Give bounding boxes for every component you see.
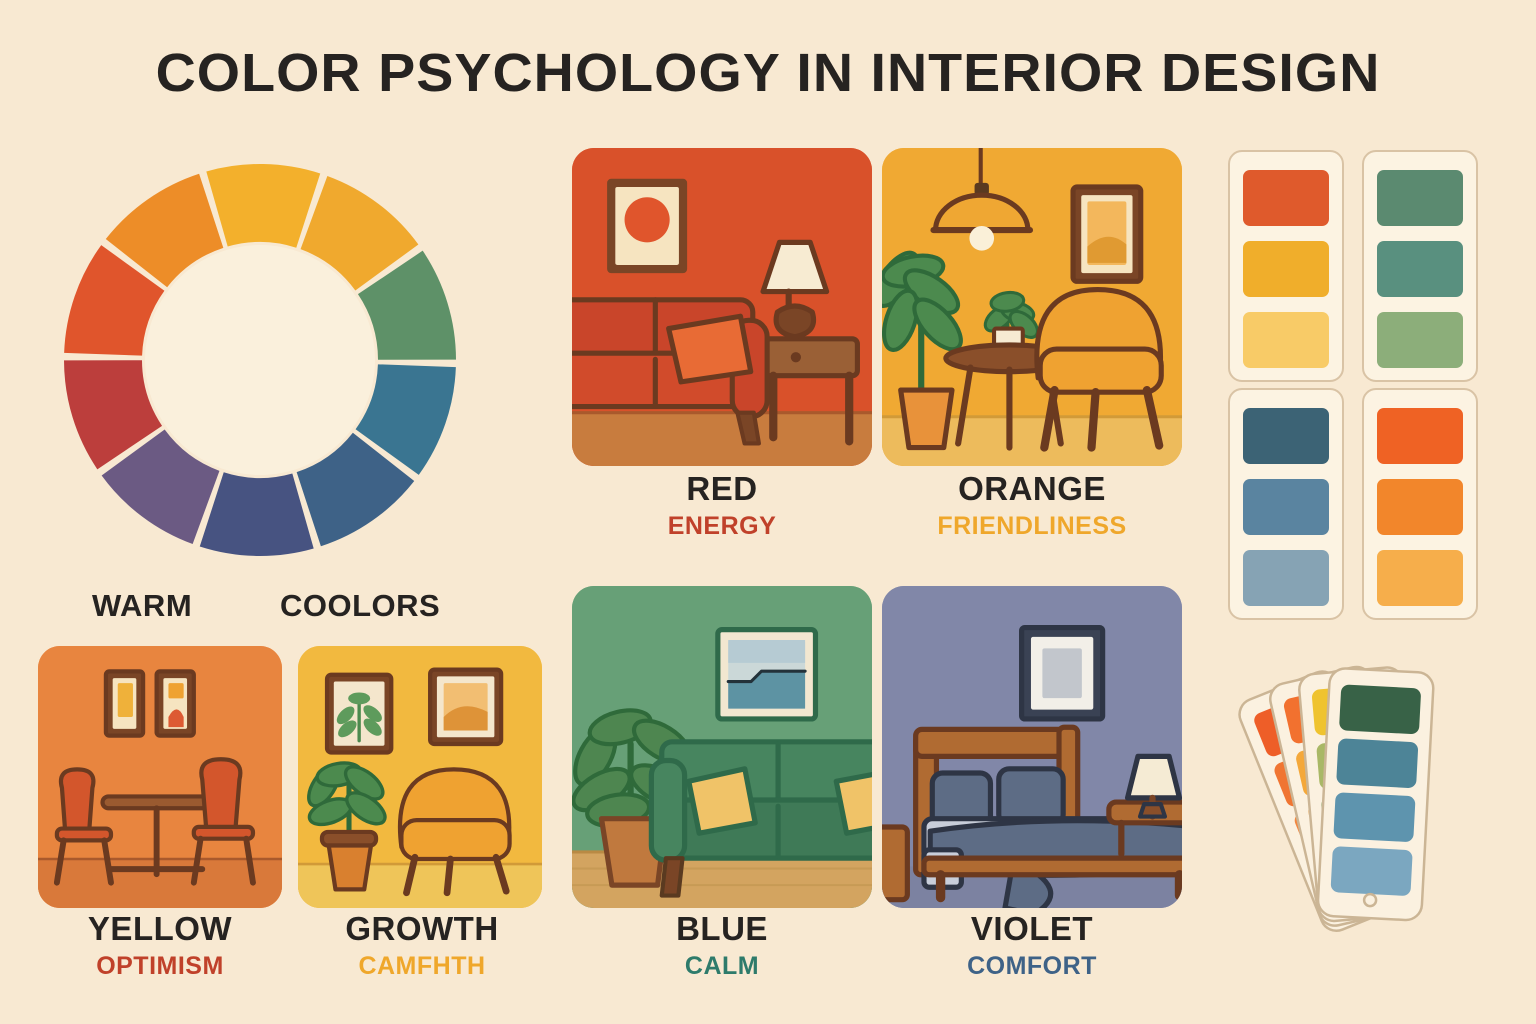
- room-mood-violet: COMFORT: [882, 953, 1182, 979]
- palette-swatch[interactable]: [1377, 312, 1462, 368]
- palette-swatch[interactable]: [1243, 408, 1328, 464]
- palette-swatch[interactable]: [1377, 550, 1462, 606]
- color-wheel-caption: WARM COOLORS: [40, 580, 480, 630]
- palette-card-greens[interactable]: [1362, 150, 1478, 382]
- palette-card-blues[interactable]: [1228, 388, 1344, 620]
- room-card-red[interactable]: [572, 148, 872, 466]
- room-caption-red: REDENERGY: [572, 472, 872, 539]
- wheel-segment-indigo[interactable]: [200, 472, 314, 556]
- room-name-orange: ORANGE: [882, 472, 1182, 507]
- room-illustration-orange: [882, 148, 1182, 466]
- fan-card-4[interactable]: [1317, 668, 1434, 921]
- room-mood-yellow: OPTIMISM: [20, 953, 300, 979]
- room-name-blue: BLUE: [572, 912, 872, 947]
- color-wheel[interactable]: [40, 140, 480, 580]
- palette-swatch[interactable]: [1243, 241, 1328, 297]
- room-card-growth[interactable]: [298, 646, 542, 908]
- room-name-growth: GROWTH: [282, 912, 562, 947]
- palette-swatch[interactable]: [1377, 479, 1462, 535]
- room-mood-orange: FRIENDLINESS: [882, 513, 1182, 539]
- room-card-orange[interactable]: [882, 148, 1182, 466]
- room-name-yellow: YELLOW: [20, 912, 300, 947]
- room-name-red: RED: [572, 472, 872, 507]
- palette-card-oranges[interactable]: [1362, 388, 1478, 620]
- room-mood-growth: CAMFHTH: [282, 953, 562, 979]
- room-illustration-blue: [572, 586, 872, 908]
- room-caption-orange: ORANGEFRIENDLINESS: [882, 472, 1182, 539]
- palette-swatch[interactable]: [1243, 550, 1328, 606]
- room-card-yellow[interactable]: [38, 646, 282, 908]
- room-card-violet[interactable]: [882, 586, 1182, 908]
- room-caption-blue: BLUECALM: [572, 912, 872, 979]
- room-illustration-growth: [298, 646, 542, 908]
- palette-swatch[interactable]: [1243, 312, 1328, 368]
- palette-swatch[interactable]: [1243, 479, 1328, 535]
- wheel-segment-yellow[interactable]: [206, 164, 320, 248]
- room-illustration-yellow: [38, 646, 282, 908]
- color-wheel-block: WARM COOLORS: [40, 140, 480, 630]
- page-title: COLOR PSYCHOLOGY IN INTERIOR DESIGN: [0, 42, 1536, 104]
- palette-swatch[interactable]: [1377, 241, 1462, 297]
- room-mood-red: ENERGY: [572, 513, 872, 539]
- room-caption-yellow: YELLOWOPTIMISM: [20, 912, 300, 979]
- infographic-canvas: COLOR PSYCHOLOGY IN INTERIOR DESIGN WARM…: [0, 0, 1536, 1024]
- room-card-blue[interactable]: [572, 586, 872, 908]
- room-mood-blue: CALM: [572, 953, 872, 979]
- room-name-violet: VIOLET: [882, 912, 1182, 947]
- room-illustration-violet: [882, 586, 1182, 908]
- room-caption-growth: GROWTHCAMFHTH: [282, 912, 562, 979]
- palette-swatch[interactable]: [1243, 170, 1328, 226]
- room-caption-violet: VIOLETCOMFORT: [882, 912, 1182, 979]
- wheel-hub: [145, 245, 375, 475]
- palette-swatch[interactable]: [1377, 170, 1462, 226]
- room-illustration-red: [572, 148, 872, 466]
- wheel-label-warm: WARM: [92, 588, 192, 624]
- palette-swatch[interactable]: [1377, 408, 1462, 464]
- paint-fan-deck[interactable]: [1218, 634, 1518, 934]
- wheel-label-cool: COOLORS: [280, 588, 440, 624]
- palette-card-warm-amber[interactable]: [1228, 150, 1344, 382]
